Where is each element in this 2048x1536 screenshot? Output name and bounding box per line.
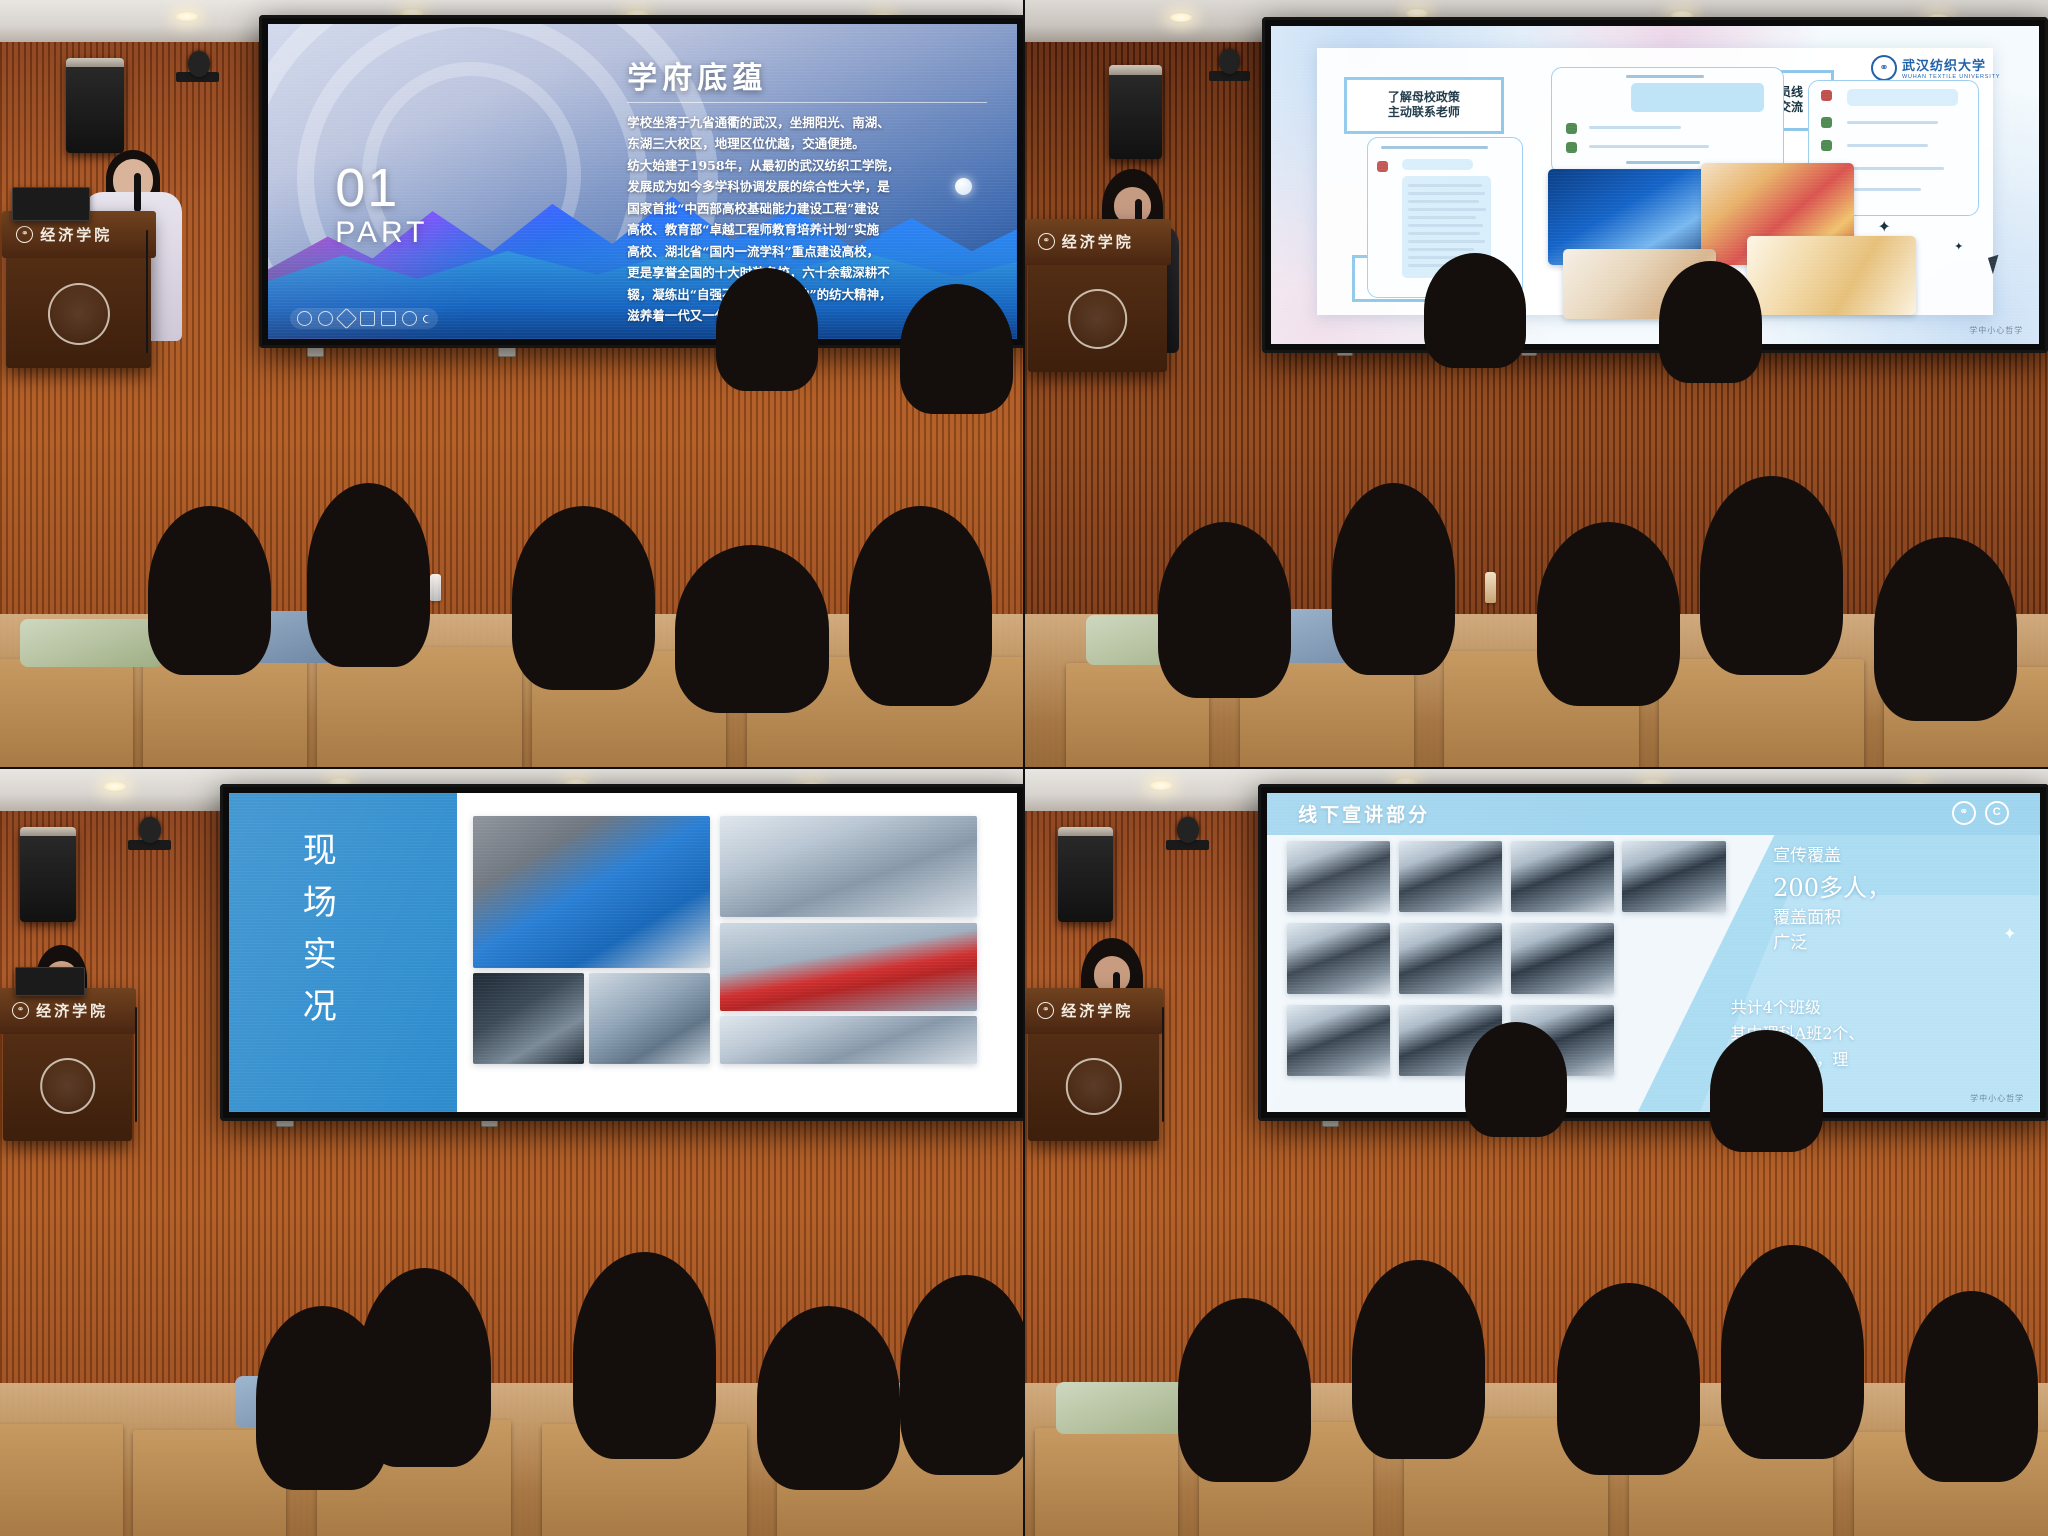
audience-member	[1352, 1260, 1485, 1459]
sparkle-icon: ✦	[1877, 220, 1890, 236]
audience-member	[512, 506, 655, 690]
wall-speaker-icon	[1109, 65, 1162, 159]
photo-cards	[1747, 236, 1916, 316]
audience-member	[900, 284, 1013, 414]
audience-member	[716, 268, 818, 391]
presentation-screen: 现场实况	[220, 784, 1023, 1120]
microphone	[134, 173, 141, 213]
photo-collage	[473, 816, 977, 1083]
audience-member	[1465, 1022, 1567, 1137]
audience-member	[675, 545, 828, 714]
school-logo-icon: ⚭	[12, 1002, 29, 1019]
school-logo-icon: ⚭	[16, 226, 33, 243]
grid-photo	[1399, 923, 1502, 994]
school-crest	[1065, 1058, 1121, 1114]
panel-bottom-right: 线下宣讲部分 ⚭ C	[1025, 769, 2048, 1536]
podium: ⚭ 经济学院	[3, 988, 132, 1141]
photo-class-session	[720, 1016, 977, 1064]
audience-member	[1721, 1245, 1864, 1460]
podium-label: 经济学院	[1061, 1000, 1133, 1021]
presentation-screen: ⚭ 武汉纺织大学 WUHAN TEXTILE UNIVERSITY 了解母校政策…	[1262, 17, 2047, 353]
school-logo-icon: ⚭	[1037, 1002, 1054, 1019]
audience-member	[1158, 522, 1291, 698]
school-crest	[1068, 289, 1128, 349]
back-icon[interactable]	[422, 313, 433, 324]
audience-member	[757, 1306, 900, 1490]
audience-member	[1659, 261, 1761, 384]
audience-member	[358, 1268, 491, 1467]
grid-photo	[1287, 923, 1390, 994]
grid-photo	[1511, 923, 1614, 994]
university-crest-icon: ⚭	[1952, 801, 1976, 825]
photo-consulting	[473, 973, 584, 1064]
wall-speaker-icon	[20, 827, 75, 923]
photo-lecture-room	[589, 973, 710, 1064]
slide-photo-grid-stats: 线下宣讲部分 ⚭ C	[1267, 793, 2039, 1111]
laser-icon[interactable]	[336, 308, 357, 329]
university-crest-icon: ⚭	[1871, 55, 1897, 81]
school-logo-icon: ⚭	[1038, 233, 1055, 250]
panel-top-left: 01 PART 学府底蕴 学校坐落于九省通衢的武汉，坐拥阳光、南湖、 东湖三大校…	[0, 0, 1023, 767]
podium: ⚭ 经济学院	[1028, 219, 1167, 372]
water-bottle	[430, 574, 441, 602]
podium-label: 经济学院	[36, 1000, 108, 1021]
wall-speaker-icon	[1058, 827, 1113, 923]
audience-member	[573, 1252, 716, 1459]
sparkle-icon: ✦	[1954, 242, 1963, 253]
audience-member	[849, 506, 992, 705]
laptop	[15, 967, 85, 997]
chat-screenshot-right	[1551, 67, 1783, 174]
university-name-cn: 武汉纺织大学	[1902, 55, 2000, 74]
section-number-block: 01 PART	[335, 163, 428, 250]
panel-top-right: ⚭ 武汉纺织大学 WUHAN TEXTILE UNIVERSITY 了解母校政策…	[1025, 0, 2048, 767]
slide-watermark: 学中小心哲学	[1970, 1093, 2024, 1104]
heading-text-policy: 了解母校政策 主动联系老师	[1388, 90, 1460, 120]
audience-member	[307, 483, 430, 667]
drink-cup	[1485, 572, 1496, 604]
panel-bottom-left: 现场实况 ⚭	[0, 769, 1023, 1536]
slide-photo-board: ⚭ 武汉纺织大学 WUHAN TEXTILE UNIVERSITY 了解母校政策…	[1271, 26, 2038, 344]
section-word: PART	[335, 216, 428, 250]
program-logo-icon: C	[1985, 801, 2009, 825]
section-number: 01	[335, 163, 428, 214]
photo-banner-group	[720, 923, 977, 1011]
photo-classroom	[720, 816, 977, 918]
grid-photo	[1287, 841, 1390, 912]
podium: ⚭ 经济学院	[1028, 988, 1159, 1141]
highlighter-icon[interactable]	[318, 311, 333, 326]
audience-member	[900, 1275, 1023, 1474]
stat-block-coverage: 宣传覆盖 200多人， 覆盖面积 广泛	[1773, 844, 2020, 957]
heading-box-policy: 了解母校政策 主动联系老师	[1344, 77, 1503, 134]
screen-icon[interactable]	[381, 311, 396, 326]
title-char: 现场实况	[292, 832, 340, 1040]
audience-member	[1874, 537, 2017, 721]
grid-photo	[1511, 841, 1614, 912]
ppt-toolbar[interactable]	[290, 308, 438, 329]
presentation-screen: 线下宣讲部分 ⚭ C	[1258, 784, 2048, 1120]
more-icon[interactable]	[402, 311, 417, 326]
university-brand: ⚭ 武汉纺织大学 WUHAN TEXTILE UNIVERSITY	[1871, 55, 2000, 81]
decorative-dot	[955, 178, 972, 195]
slide-title: 线下宣讲部分	[1298, 800, 1430, 827]
audience-member	[1557, 1283, 1700, 1475]
slide-watermark: 学中小心哲学	[1969, 325, 2023, 336]
audience-member	[1424, 253, 1526, 368]
audience-member	[148, 506, 271, 675]
grid-photo	[1399, 841, 1502, 912]
podium: ⚭ 经济学院	[6, 211, 151, 368]
slides-icon[interactable]	[360, 311, 375, 326]
audience-member	[1178, 1298, 1311, 1482]
school-crest	[48, 283, 110, 345]
pen-icon[interactable]	[297, 311, 312, 326]
wall-speaker-icon	[66, 58, 123, 154]
photo-grid: 01 PART 学府底蕴 学校坐落于九省通衢的武汉，坐拥阳光、南湖、 东湖三大校…	[0, 0, 2048, 1536]
audience-member	[1700, 476, 1843, 675]
laptop	[12, 187, 90, 221]
brand-logos: ⚭ C	[1952, 801, 2009, 825]
grid-photo	[1287, 1005, 1390, 1076]
slide-title: 学府底蕴	[627, 53, 986, 97]
grid-photo	[1622, 841, 1725, 912]
podium-label: 经济学院	[1062, 231, 1134, 252]
audience-member	[1905, 1291, 2038, 1483]
photo-brochure	[473, 816, 710, 968]
podium-label: 经济学院	[40, 224, 112, 245]
sparkle-icon: ✦	[2003, 927, 2016, 943]
school-crest	[40, 1058, 96, 1114]
slide-photo-collage: 现场实况	[229, 793, 1017, 1111]
audience-member	[1710, 1030, 1823, 1153]
audience-member	[1332, 483, 1455, 675]
audience-member	[1537, 522, 1680, 706]
